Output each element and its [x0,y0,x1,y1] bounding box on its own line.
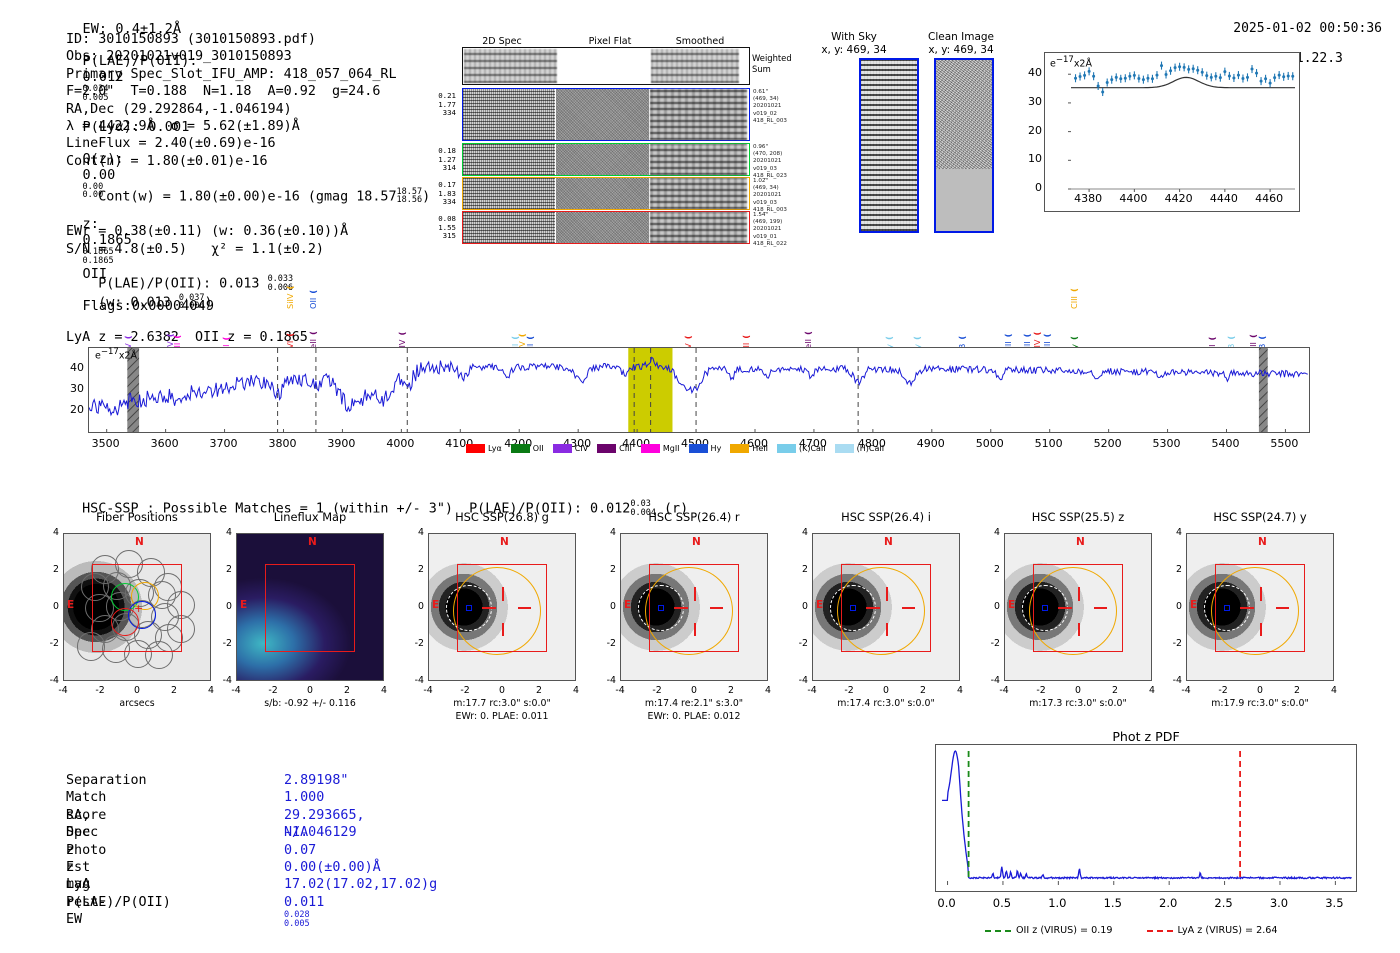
spectrum-legend-swatch [553,444,572,453]
cutout-ytick-3-3: -2 [598,638,616,649]
spectrum-legend-swatch [777,444,796,453]
cutout-ytick-1-0: 4 [214,527,232,538]
cutout-xtick-5-4: 4 [1140,685,1164,696]
cutout-sub1-1: s/b: -0.92 +/- 0.116 [210,698,410,710]
spec2d-row-1-left-2: 314 [408,164,456,173]
spec2d-row-1-right-labels: 0.96"(470, 208)20201021v019_03418_RL_023 [753,144,813,180]
cutout-title-2: HSC SSP(26.8) g [410,510,594,524]
photz-legend-label-0: OII z (VIRUS) = 0.19 [1016,925,1113,936]
cutout-title-6: HSC SSP(24.7) y [1168,510,1352,524]
cutout-xtick-2-1: -2 [453,685,477,696]
info-line-id: ID: 3010150893 (3010150893.pdf) [66,31,430,48]
spec2d-row-0-right-labels: 0.61"(469, 34)20201021v019_02418_RL_003 [753,89,813,125]
info-line-cont-w: Cont(w) = 1.80(±0.00)e-16 (gmag 18.5718.… [66,170,430,223]
line-profile-xtick: 4460 [1251,192,1287,205]
withsky-subtitle: x, y: 469, 34 [806,44,902,56]
spec2d-row-0-left-2: 334 [408,109,456,118]
withsky-title: With Sky [806,31,902,43]
spec2d-row-2-pixelflat [556,178,649,209]
spec2d-row-2-right-labels: 1.02"(469, 34)20201021v019_03418_RL_003 [753,178,813,214]
object-info-block: ID: 3010150893 (3010150893.pdf) Obs: 202… [66,31,430,346]
full-spectrum-svg [89,348,1309,432]
spec2d-row-3-right-3: v019_01 [753,234,813,241]
info-line-wavelength: λ = 4422.9Å σ = 5.62(±1.89)Å [66,118,430,135]
spectrum-legend-item-1: OII [511,444,544,453]
compass-north-3: N [692,536,701,548]
cutout-crosshair-2-2 [482,607,495,608]
cutout-ytick-3-2: 0 [598,601,616,612]
spec2d-title-pixelflat: Pixel Flat [570,36,650,47]
cutout-title-4: HSC SSP(26.4) i [794,510,978,524]
line-profile-ytick: 30 [1020,95,1042,108]
cutout-image-4[interactable]: NE [812,533,960,681]
cutout-sub2-2: EWr: 0. PLAE: 0.011 [402,711,602,723]
cutout-ytick-4-3: -2 [790,638,808,649]
compass-east-2: E [432,599,439,611]
cutout-redbox-4 [841,564,931,653]
cutout-image-6[interactable]: NE [1186,533,1334,681]
spectrum-xtick: 4000 [376,437,424,450]
cutout-ytick-0-3: -2 [41,638,59,649]
spectrum-xtick: 5500 [1260,437,1308,450]
match-value-1: 1.000 [284,789,324,806]
cutout-crosshair-2-3 [518,607,531,608]
spec2d-row-3-2dspec [463,212,555,243]
info-line-sn-chi2: S/N = 4.8(±0.5) χ² = 1.1(±0.2) [66,241,430,258]
compass-north-0: N [135,536,144,548]
spec2d-row-0 [462,88,750,141]
cutout-xtick-4-1: -2 [837,685,861,696]
cutout-ytick-5-2: 0 [982,601,1000,612]
line-profile-xtick: 4420 [1161,192,1197,205]
photz-legend-label-1: LyA z (VIRUS) = 2.64 [1178,925,1278,936]
spec2d-row-2-left-labels: 0.171.83334 [408,181,456,207]
spec2d-row-0-left-labels: 0.211.77334 [408,92,456,118]
header-timestamp: 2025-01-02 00:50:36 [1233,21,1382,36]
cutout-ytick-2-0: 4 [406,527,424,538]
cutout-crosshair-3-3 [710,607,723,608]
cutout-xtick-6-0: -4 [1174,685,1198,696]
cutout-ytick-2-3: -2 [406,638,424,649]
cutout-redbox-2 [457,564,547,653]
cutout-sub1-2: m:17.7 rc:3.0" s:0.0" [402,698,602,710]
spec2d-row-2 [462,177,750,210]
cutout-ytick-6-0: 4 [1164,527,1182,538]
line-profile-flux-unit: e−17x2Å [1050,56,1092,70]
cutout-title-5: HSC SSP(25.5) z [986,510,1170,524]
cutout-crosshair-2-1 [502,623,503,636]
cutout-xtick-5-2: 0 [1066,685,1090,696]
spectrum-legend-label: MgII [663,444,680,453]
cutout-crosshair-5-1 [1078,623,1079,636]
cutout-crosshair-4-2 [866,607,879,608]
cutout-xtick-0-4: 4 [199,685,223,696]
cutout-ytick-6-2: 0 [1164,601,1182,612]
cutout-crosshair-4-0 [886,587,887,600]
line-profile-ytick: 20 [1020,124,1042,137]
spec2d-row-1-right-0: 0.96" [753,144,813,151]
match-value-6: 17.02(17.02,17.02)g [284,876,437,893]
spectrum-ytick: 30 [56,382,84,395]
cutout-sub1-3: m:17.4 re:2.1" s:3.0" [594,698,794,710]
spec2d-row-1-right-1: (470, 208) [753,151,813,158]
cutout-xtick-4-4: 4 [948,685,972,696]
cutout-sub1-4: m:17.4 rc:3.0" s:0.0" [786,698,986,710]
cutout-xtick-6-1: -2 [1211,685,1235,696]
spec2d-row-3-pixelflat [556,212,649,243]
spectrum-legend-swatch [641,444,660,453]
compass-north-6: N [1258,536,1267,548]
cutout-xtick-3-4: 4 [756,685,780,696]
photz-xtick-0: 0.0 [927,896,967,910]
spec2d-title-smoothed: Smoothed [660,36,740,47]
photz-legend-dash-0 [985,930,1011,932]
spec2d-row-1 [462,143,750,176]
withsky-image [859,58,919,233]
spectrum-xtick: 4900 [907,437,955,450]
cutout-xtick-5-3: 2 [1103,685,1127,696]
spectrum-lineid-oii-6: OII ❪ [308,288,318,309]
spec2d-row-3-right-0: 1.54" [753,212,813,219]
cutout-crosshair-3-2 [674,607,687,608]
cutout-crosshair-5-0 [1078,587,1079,600]
spec2d-row-3-right-1: (469, 199) [753,219,813,226]
spectrum-xtick: 5100 [1025,437,1073,450]
cutout-xtick-6-4: 4 [1322,685,1346,696]
spec2d-row-2-right-2: 20201021 [753,192,813,199]
compass-east-6: E [1190,599,1197,611]
cutout-ytick-3-1: 2 [598,564,616,575]
spec2d-row-2-left-2: 334 [408,198,456,207]
cutout-xtick-0-2: 0 [125,685,149,696]
line-profile-xtick: 4440 [1206,192,1242,205]
cutout-xtick-0-0: -4 [51,685,75,696]
weighted-sum-label: Weighted Sum [752,53,792,74]
spec2d-row-0-right-0: 0.61" [753,89,813,96]
spectrum-legend-label: OII [533,444,544,453]
spec2d-row-3-right-labels: 1.54"(469, 199)20201021v019_01418_RL_022 [753,212,813,248]
cutout-xtick-3-2: 0 [682,685,706,696]
spectrum-xtick: 5000 [966,437,1014,450]
spectrum-legend-item-7: (K)CaII [777,444,826,453]
photz-xtick-6: 3.0 [1259,896,1299,910]
cutout-xtick-5-0: -4 [992,685,1016,696]
spec2d-row-1-smoothed [650,144,747,175]
cutout-ytick-2-2: 0 [406,601,424,612]
spectrum-legend-swatch [730,444,749,453]
spec2d-row-1-right-3: v019_03 [753,166,813,173]
spec2d-row-3-smoothed [650,212,747,243]
cutout-crosshair-6-0 [1260,587,1261,600]
spectrum-legend-label: HeII [752,444,768,453]
line-profile-xtick: 4380 [1070,192,1106,205]
match-plae-range: 0.0280.005 [284,911,310,929]
cutout-xtick-5-1: -2 [1029,685,1053,696]
cutout-xtick-1-4: 4 [372,685,396,696]
spectrum-legend-label: (K)CaII [799,444,826,453]
match-value-5: 0.00(±0.00)Å [284,859,381,876]
spectrum-legend-label: (H)CaII [857,444,884,453]
spec2d-title-2dspec: 2D Spec [462,36,542,47]
compass-east-5: E [1008,599,1015,611]
spec2d-row-3-left-labels: 0.081.55315 [408,215,456,241]
spec2d-row-3-right-4: 418_RL_022 [753,241,813,248]
cutout-xtick-0-3: 2 [162,685,186,696]
cutout-image-2[interactable]: NE [428,533,576,681]
cutout-crosshair-3-1 [694,623,695,636]
cutout-sub1-5: m:17.3 rc:3.0" s:0.0" [978,698,1178,710]
spectrum-legend-label: Hy [711,444,722,453]
spectrum-xtick: 3700 [200,437,248,450]
spec2d-row-2-smoothed [650,178,747,209]
cutout-xtick-6-2: 0 [1248,685,1272,696]
cutout-ytick-4-2: 0 [790,601,808,612]
spec2d-row-3-left-2: 315 [408,232,456,241]
compass-north-5: N [1076,536,1085,548]
cutout-xtick-2-0: -4 [416,685,440,696]
cutout-title-0: Fiber Positions [45,510,229,524]
photz-legend-item-1: LyA z (VIRUS) = 2.64 [1147,925,1278,936]
match-value-3: N/A [284,824,308,841]
cutout-sub1-6: m:17.9 rc:3.0" s:0.0" [1160,698,1360,710]
cutout-xtick-3-3: 2 [719,685,743,696]
cutout-crosshair-3-0 [694,587,695,600]
spectrum-legend-item-0: Lyα [466,444,502,453]
weighted-sum-row [462,47,750,85]
cutout-title-1: Lineflux Map [218,510,402,524]
spec2d-row-0-right-3: v019_02 [753,111,813,118]
spectrum-legend-swatch [511,444,530,453]
cutout-xtick-3-0: -4 [608,685,632,696]
spectrum-lineid-siiv-4: SiIV ❪ [285,284,295,309]
cutout-ytick-3-0: 4 [598,527,616,538]
spectrum-legend-item-5: Hy [689,444,722,453]
cutout-image-1[interactable]: NE [236,533,384,681]
spectrum-legend-swatch [466,444,485,453]
match-value-0: 2.89198" [284,772,349,789]
spectrum-legend-item-6: HeII [730,444,768,453]
info-line-plae: P(LAE)/P(OII): 0.013 0.0330.006 (w: 0.01… [66,258,430,329]
spec2d-row-1-2dspec [463,144,555,175]
cutout-ytick-0-1: 2 [41,564,59,575]
cutout-ytick-6-1: 2 [1164,564,1182,575]
cutout-crosshair-5-2 [1058,607,1071,608]
spectrum-legend-item-4: MgII [641,444,680,453]
match-key-7: P(LAE)/P(OII) [66,894,171,911]
spectrum-legend-swatch [835,444,854,453]
cutout-sub1-0: arcsecs [37,698,237,710]
photz-legend-item-0: OII z (VIRUS) = 0.19 [985,925,1113,936]
info-line-params: F=2.0" T=0.188 N=1.18 A=0.92 g=24.6 [66,83,430,100]
cutout-crosshair-5-3 [1094,607,1107,608]
info-line-obs: Obs: 20201021v019_3010150893 [66,48,430,65]
cutout-xtick-1-1: -2 [261,685,285,696]
cutout-image-0[interactable]: +NE [63,533,211,681]
cutout-xtick-6-3: 2 [1285,685,1309,696]
photz-title: Phot z PDF [935,729,1357,744]
cutout-ytick-1-2: 0 [214,601,232,612]
photz-xtick-3: 1.5 [1093,896,1133,910]
photz-xtick-4: 2.0 [1148,896,1188,910]
cutout-ytick-5-0: 4 [982,527,1000,538]
match-value-4: 0.07 [284,842,316,859]
cutout-image-3[interactable]: NE [620,533,768,681]
cleanimage-image [934,58,994,233]
cutout-crosshair-6-1 [1260,623,1261,636]
weighted-sum-smoothed [651,49,739,83]
cutout-ytick-0-2: 0 [41,601,59,612]
photz-svg [936,745,1356,891]
spectrum-ytick: 40 [56,361,84,374]
line-profile-ytick: 0 [1020,181,1042,194]
spec2d-row-3 [462,211,750,244]
spec2d-row-0-smoothed [650,89,747,140]
info-plae-w-range: 0.0370.006 [179,294,205,312]
weighted-sum-pixelflat [558,49,650,83]
spectrum-xtick: 3600 [141,437,189,450]
spectrum-legend-swatch [597,444,616,453]
cutout-redbox-5 [1033,564,1123,653]
cutout-ytick-2-1: 2 [406,564,424,575]
weighted-sum-2dspec [464,49,557,83]
photz-xtick-2: 1.0 [1037,896,1077,910]
cutout-xtick-2-4: 4 [564,685,588,696]
cutout-xtick-4-0: -4 [800,685,824,696]
spectrum-xtick: 3900 [317,437,365,450]
spectrum-xtick: 5200 [1084,437,1132,450]
info-line-radec: RA,Dec (29.292864,-1.046194) [66,101,430,118]
spectrum-legend-label: CIV [575,444,588,453]
cutout-ytick-5-1: 2 [982,564,1000,575]
spectrum-lineid-ciii-22: CIII ❪ [1069,287,1079,309]
cutout-redbox-1 [265,564,355,653]
spectrum-legend-item-2: CIV [553,444,588,453]
spec2d-row-2-right-0: 1.02" [753,178,813,185]
cutout-xtick-1-0: -4 [224,685,248,696]
line-profile-xtick: 4400 [1115,192,1151,205]
cutout-xtick-4-3: 2 [911,685,935,696]
line-profile-plot: e−17x2Å [1044,52,1300,212]
cutout-xtick-2-2: 0 [490,685,514,696]
cutout-ytick-4-1: 2 [790,564,808,575]
cutout-ytick-0-0: 4 [41,527,59,538]
photz-plot [935,744,1357,892]
line-profile-ytick: 40 [1020,66,1042,79]
spec2d-row-1-pixelflat [556,144,649,175]
info-line-cont-n: Cont(n) = 1.80(±0.01)e-16 [66,153,430,170]
line-profile-ytick: 10 [1020,152,1042,165]
cutout-ytick-1-3: -2 [214,638,232,649]
match-key-6: mag [66,876,90,893]
cutout-xtick-4-2: 0 [874,685,898,696]
spectrum-flux-unit: e−17x2Å [95,348,137,362]
spec2d-row-0-2dspec [463,89,555,140]
cutout-crosshair-2-0 [502,587,503,600]
cutout-xtick-1-3: 2 [335,685,359,696]
cutout-title-3: HSC SSP(26.4) r [602,510,786,524]
photz-xtick-7: 3.5 [1314,896,1354,910]
info-line-redshifts: LyA z = 2.6382 OII z = 0.1865 [66,329,430,346]
spec2d-row-0-right-4: 418_RL_003 [753,118,813,125]
cutout-crosshair-4-1 [886,623,887,636]
cutout-image-5[interactable]: NE [1004,533,1152,681]
cutout-xtick-3-1: -2 [645,685,669,696]
spec2d-row-1-left-labels: 0.181.27314 [408,147,456,173]
cutout-redbox-6 [1215,564,1305,653]
spec2d-row-2-right-3: v019_03 [753,200,813,207]
spec2d-row-3-right-2: 20201021 [753,226,813,233]
spectrum-xtick: 3500 [82,437,130,450]
spectrum-xtick: 5400 [1201,437,1249,450]
photz-legend-dash-1 [1147,930,1173,932]
spec2d-row-0-pixelflat [556,89,649,140]
cutout-ytick-5-3: -2 [982,638,1000,649]
photz-xtick-5: 2.5 [1204,896,1244,910]
cutout-ytick-6-3: -2 [1164,638,1182,649]
spectrum-ytick: 20 [56,403,84,416]
spectrum-legend: LyαOIICIVCIIIMgIIHyHeII(K)CaII(H)CaII [466,444,884,453]
spectrum-legend-swatch [689,444,708,453]
cutout-sub2-3: EWr: 0. PLAE: 0.012 [594,711,794,723]
photz-legend: OII z (VIRUS) = 0.19LyA z (VIRUS) = 2.64 [985,925,1278,936]
cleanimage-title: Clean Image [906,31,1016,43]
cutout-ytick-4-0: 4 [790,527,808,538]
cutout-xtick-1-2: 0 [298,685,322,696]
spec2d-row-0-right-2: 20201021 [753,103,813,110]
spec2d-row-0-right-1: (469, 34) [753,96,813,103]
spec2d-row-2-2dspec [463,178,555,209]
cutout-crosshair-6-2 [1240,607,1253,608]
compass-east-3: E [624,599,631,611]
cutout-crosshair-6-3 [1276,607,1289,608]
spectrum-legend-item-8: (H)CaII [835,444,884,453]
info-line-ewr: EWr = 0.38(±0.11) (w: 0.36(±0.10))Å [66,223,430,240]
info-line-primary-spec: Primary Spec_Slot_IFU_AMP: 418_057_064_R… [66,66,430,83]
compass-east-1: E [240,599,247,611]
cutout-xtick-0-1: -2 [88,685,112,696]
match-key-0: Separation [66,772,147,789]
spectrum-legend-label: Lyα [488,444,502,453]
cleanimage-subtitle: x, y: 469, 34 [906,44,1016,56]
cutout-redbox-0 [92,564,182,653]
compass-north-2: N [500,536,509,548]
spec2d-row-2-right-1: (469, 34) [753,185,813,192]
match-value-7: 0.011 0.0280.005 [284,894,324,930]
spectrum-legend-item-3: CIII [597,444,632,453]
cutout-redbox-3 [649,564,739,653]
spectrum-xtick: 5300 [1143,437,1191,450]
full-spectrum-plot: e−17x2Å [88,347,1310,433]
cutout-xtick-2-3: 2 [527,685,551,696]
spectrum-xtick: 3800 [258,437,306,450]
spectrum-legend-label: CIII [619,444,632,453]
info-line-lineflux: LineFlux = 2.40(±0.69)e-16 [66,135,430,152]
spec2d-row-1-right-2: 20201021 [753,158,813,165]
cutout-crosshair-4-3 [902,607,915,608]
compass-east-4: E [816,599,823,611]
photz-xtick-1: 0.5 [982,896,1022,910]
cutout-ytick-1-1: 2 [214,564,232,575]
compass-east-0: E [67,599,74,611]
line-profile-svg [1045,53,1299,211]
compass-north-4: N [884,536,893,548]
compass-north-1: N [308,536,317,548]
